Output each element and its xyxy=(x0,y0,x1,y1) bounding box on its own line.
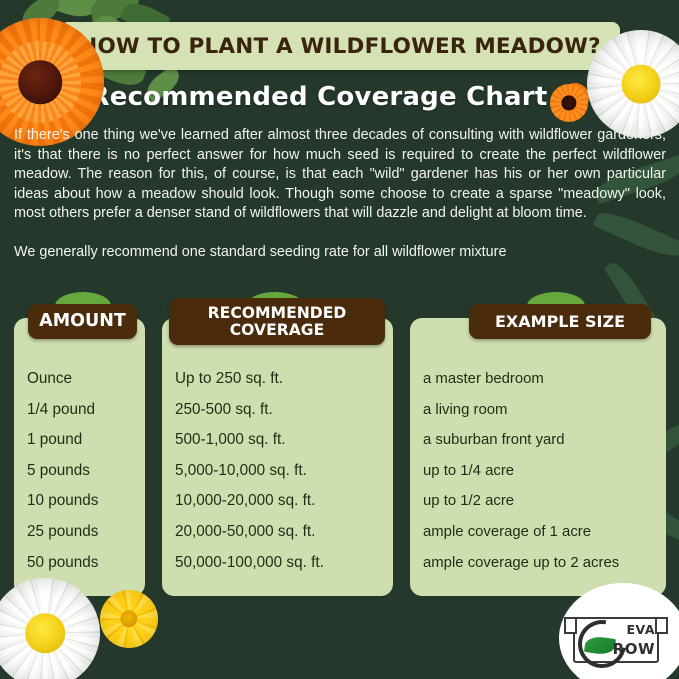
title-banner: HOW TO PLANT A WILDFLOWER MEADOW? xyxy=(60,22,620,70)
table-row: Ounce xyxy=(27,364,145,395)
body-paragraph-2: We generally recommend one standard seed… xyxy=(14,243,666,263)
column-header-coverage: RECOMMENDED COVERAGE xyxy=(169,298,385,345)
column-example-size: a master bedroom a living room a suburba… xyxy=(410,318,666,596)
coverage-rows: Up to 250 sq. ft. 250-500 sq. ft. 500-1,… xyxy=(175,364,393,578)
example-rows: a master bedroom a living room a suburba… xyxy=(423,364,666,578)
amount-rows: Ounce 1/4 pound 1 pound 5 pounds 10 poun… xyxy=(27,364,145,578)
table-row: 1 pound xyxy=(27,425,145,456)
table-row: 50 pounds xyxy=(27,548,145,579)
page-title: HOW TO PLANT A WILDFLOWER MEADOW? xyxy=(79,34,601,59)
table-row: 10,000-20,000 sq. ft. xyxy=(175,486,393,517)
body-paragraph-1: If there's one thing we've learned after… xyxy=(14,126,666,224)
table-row: a living room xyxy=(423,395,666,426)
column-header-example-label: EXAMPLE SIZE xyxy=(495,313,625,330)
table-row: up to 1/4 acre xyxy=(423,456,666,487)
subtitle-flower-icon xyxy=(561,83,589,111)
table-row: 5 pounds xyxy=(27,456,145,487)
table-row: 1/4 pound xyxy=(27,395,145,426)
table-row: up to 1/2 acre xyxy=(423,486,666,517)
column-recommended-coverage: Up to 250 sq. ft. 250-500 sq. ft. 500-1,… xyxy=(162,318,393,596)
column-header-amount: AMOUNT xyxy=(28,304,137,339)
logo-text: EVA ROW xyxy=(610,620,656,660)
table-row: Up to 250 sq. ft. xyxy=(175,364,393,395)
table-row: 5,000-10,000 sq. ft. xyxy=(175,456,393,487)
logo-line-2: ROW xyxy=(613,640,655,658)
body-copy: If there's one thing we've learned after… xyxy=(14,126,666,263)
subtitle-row: Recommended Coverage Chart xyxy=(0,76,679,118)
table-row: 10 pounds xyxy=(27,486,145,517)
column-amount: Ounce 1/4 pound 1 pound 5 pounds 10 poun… xyxy=(14,318,145,596)
column-header-coverage-line1: RECOMMENDED xyxy=(208,305,347,322)
logo-mark: EVA ROW xyxy=(573,617,659,663)
table-row: a master bedroom xyxy=(423,364,666,395)
logo-line-1: EVA xyxy=(626,622,655,637)
column-header-amount-label: AMOUNT xyxy=(39,312,126,331)
table-row: 250-500 sq. ft. xyxy=(175,395,393,426)
table-row: ample coverage of 1 acre xyxy=(423,517,666,548)
infographic-canvas: HOW TO PLANT A WILDFLOWER MEADOW? Recomm… xyxy=(0,0,679,679)
column-header-example: EXAMPLE SIZE xyxy=(469,304,651,339)
table-row: 50,000-100,000 sq. ft. xyxy=(175,548,393,579)
column-header-coverage-line2: COVERAGE xyxy=(208,322,347,339)
table-row: 20,000-50,000 sq. ft. xyxy=(175,517,393,548)
page-subtitle: Recommended Coverage Chart xyxy=(90,82,548,112)
coverage-table: Ounce 1/4 pound 1 pound 5 pounds 10 poun… xyxy=(14,318,666,596)
table-row: ample coverage up to 2 acres xyxy=(423,548,666,579)
bottom-left-coreopsis-icon xyxy=(100,590,158,648)
table-row: 25 pounds xyxy=(27,517,145,548)
table-row: 500-1,000 sq. ft. xyxy=(175,425,393,456)
brand-logo: EVA ROW xyxy=(565,609,673,675)
table-row: a suburban front yard xyxy=(423,425,666,456)
